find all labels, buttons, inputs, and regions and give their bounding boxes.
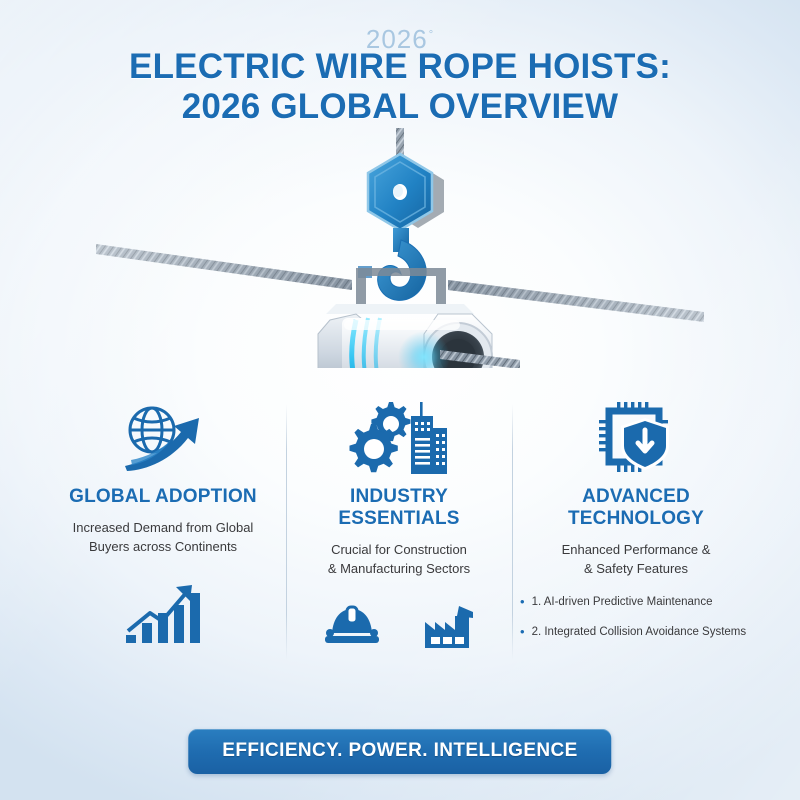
column-divider-2 [512,404,513,660]
footer-tagline-banner: EFFICIENCY. POWER. INTELLIGENCE [188,729,611,774]
list-item: • 2. Integrated Collision Avoidance Syst… [520,624,752,641]
list-item: • 1. AI-driven Predictive Maintenance [520,594,752,611]
bullet-dot-icon: • [520,594,525,610]
watermark-year: 2026° [366,26,434,52]
footer-tagline-text: EFFICIENCY. POWER. INTELLIGENCE [222,740,577,762]
watermark-year-text: 2026 [366,24,428,54]
column-heading-global-adoption: GLOBAL ADOPTION [46,486,280,508]
watermark-degree-mark: ° [429,29,434,41]
header: 2026° ELECTRIC WIRE ROPE HOISTS: 2026 GL… [0,26,800,127]
feature-column-industry-essentials: INDUSTRY ESSENTIALS Crucial for Construc… [286,396,512,676]
column-description-global-adoption: Increased Demand from Global Buyers acro… [46,519,280,557]
bullet-dot-icon: • [520,624,525,640]
advanced-technology-bullet-list: • 1. AI-driven Predictive Maintenance • … [518,594,754,641]
column-heading-line-1: ADVANCED [582,486,690,507]
column-divider-1 [286,404,287,660]
column-heading-advanced-technology: ADVANCED TECHNOLOGY [518,486,754,530]
factory-icon [423,604,475,655]
gears-building-icon [292,396,506,480]
column-desc-line-1: Crucial for Construction [331,542,467,557]
cpu-shield-icon [518,396,754,480]
infographic-poster: 2026° ELECTRIC WIRE ROPE HOISTS: 2026 GL… [0,0,800,800]
hero-illustration [0,128,800,368]
hard-hat-icon [323,605,381,654]
bullet-text: 1. AI-driven Predictive Maintenance [532,594,713,611]
feature-column-global-adoption: GLOBAL ADOPTION Increased Demand from Gl… [40,396,286,676]
bullet-text: 2. Integrated Collision Avoidance System… [532,624,747,641]
column-description-industry-essentials: Crucial for Construction & Manufacturing… [292,541,506,579]
column-desc-line-1: Increased Demand from Global [73,520,254,535]
hoist-hook-icon [358,154,444,300]
column-heading-industry-essentials: INDUSTRY ESSENTIALS [292,486,506,530]
page-title-line-2: 2026 GLOBAL OVERVIEW [0,87,800,127]
column-description-advanced-technology: Enhanced Performance & & Safety Features [518,541,754,579]
hoist-illustration-svg [0,128,800,368]
column-desc-line-2: & Manufacturing Sectors [328,561,470,576]
column-desc-line-1: Enhanced Performance & [562,542,711,557]
column-desc-line-2: Buyers across Continents [89,539,237,554]
globe-growth-arrow-icon [46,396,280,480]
column-sub-icons-global-adoption [46,583,280,652]
column-desc-line-2: & Safety Features [584,561,688,576]
bar-chart-growth-icon [120,583,206,652]
feature-columns: GLOBAL ADOPTION Increased Demand from Gl… [40,396,760,676]
feature-column-advanced-technology: ADVANCED TECHNOLOGY Enhanced Performance… [512,396,760,676]
page-title: ELECTRIC WIRE ROPE HOISTS: 2026 GLOBAL O… [0,47,800,127]
column-sub-icons-industry-essentials [292,604,506,655]
column-heading-line-2: TECHNOLOGY [568,508,704,529]
hoist-body-icon [318,304,520,368]
